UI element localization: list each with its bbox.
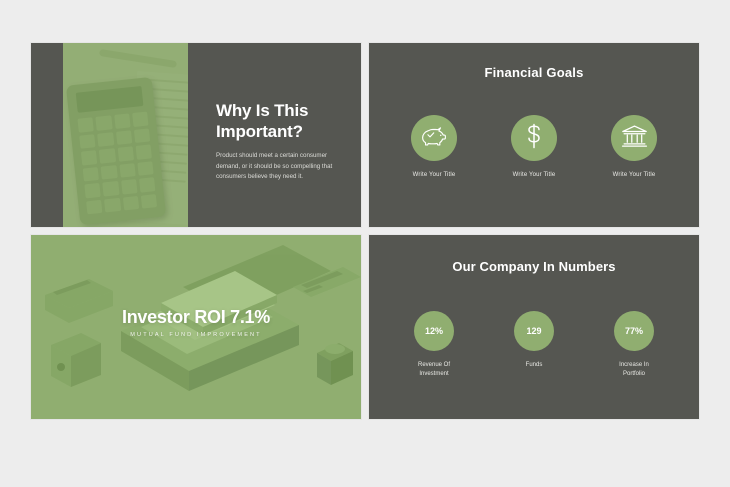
- stat-label-line2: Investment: [419, 371, 448, 377]
- calculator-photo: [63, 43, 188, 227]
- stat-label-line1: Funds: [526, 362, 543, 368]
- dollar-sign-icon: [524, 123, 544, 154]
- slide-title: Financial Goals: [369, 65, 699, 80]
- stat-item[interactable]: 12% Revenue OfInvestment: [391, 311, 477, 378]
- slide-text-block: Investor ROI 7.1% MUTUAL FUND IMPROVEMEN…: [31, 307, 361, 338]
- stat-item[interactable]: 129 Funds: [491, 311, 577, 378]
- stat-value-circle: 77%: [614, 311, 654, 351]
- stat-value-circle: 12%: [414, 311, 454, 351]
- slide-text-block: Why Is ThisImportant? Product should mee…: [216, 101, 336, 182]
- goal-label: Write Your Title: [591, 172, 677, 178]
- slide-title-line1: Why Is This: [216, 101, 308, 120]
- slide-financial-goals[interactable]: Financial Goals Write Your Title: [369, 43, 699, 227]
- slide-our-company-in-numbers[interactable]: Our Company In Numbers 12% Revenue OfInv…: [369, 235, 699, 419]
- green-overlay: [63, 43, 188, 227]
- slide-deck: Why Is ThisImportant? Product should mee…: [31, 43, 699, 440]
- stat-label: Increase InPortfolio: [591, 361, 677, 378]
- goal-label: Write Your Title: [391, 172, 477, 178]
- slide-why-is-this-important[interactable]: Why Is ThisImportant? Product should mee…: [31, 43, 361, 227]
- slide-title: Why Is ThisImportant?: [216, 101, 336, 142]
- stat-label-line2: Portfolio: [623, 371, 645, 377]
- slide-subtitle: MUTUAL FUND IMPROVEMENT: [31, 332, 361, 338]
- stats-row: 12% Revenue OfInvestment 129 Funds 77% I…: [391, 311, 677, 378]
- goal-item[interactable]: Write Your Title: [491, 115, 577, 178]
- stat-label-line1: Increase In: [619, 362, 649, 368]
- slide-title-line2: Important?: [216, 122, 303, 141]
- goal-label: Write Your Title: [491, 172, 577, 178]
- goal-item[interactable]: Write Your Title: [591, 115, 677, 178]
- goal-icon-circle: [511, 115, 557, 161]
- goal-icon-circle: [411, 115, 457, 161]
- piggy-bank-icon: [421, 125, 447, 152]
- slide-body-text: Product should meet a certain consumer d…: [216, 151, 336, 181]
- goal-item[interactable]: Write Your Title: [391, 115, 477, 178]
- stat-label: Funds: [491, 361, 577, 370]
- goals-row: Write Your Title Write Your Title: [391, 115, 677, 178]
- slide-title: Our Company In Numbers: [369, 259, 699, 274]
- slide-title: Investor ROI 7.1%: [31, 307, 361, 328]
- slide-investor-roi[interactable]: Investor ROI 7.1% MUTUAL FUND IMPROVEMEN…: [31, 235, 361, 419]
- bank-building-icon: [621, 124, 648, 153]
- stat-label: Revenue OfInvestment: [391, 361, 477, 378]
- stat-label-line1: Revenue Of: [418, 362, 450, 368]
- stat-value-circle: 129: [514, 311, 554, 351]
- stat-item[interactable]: 77% Increase InPortfolio: [591, 311, 677, 378]
- goal-icon-circle: [611, 115, 657, 161]
